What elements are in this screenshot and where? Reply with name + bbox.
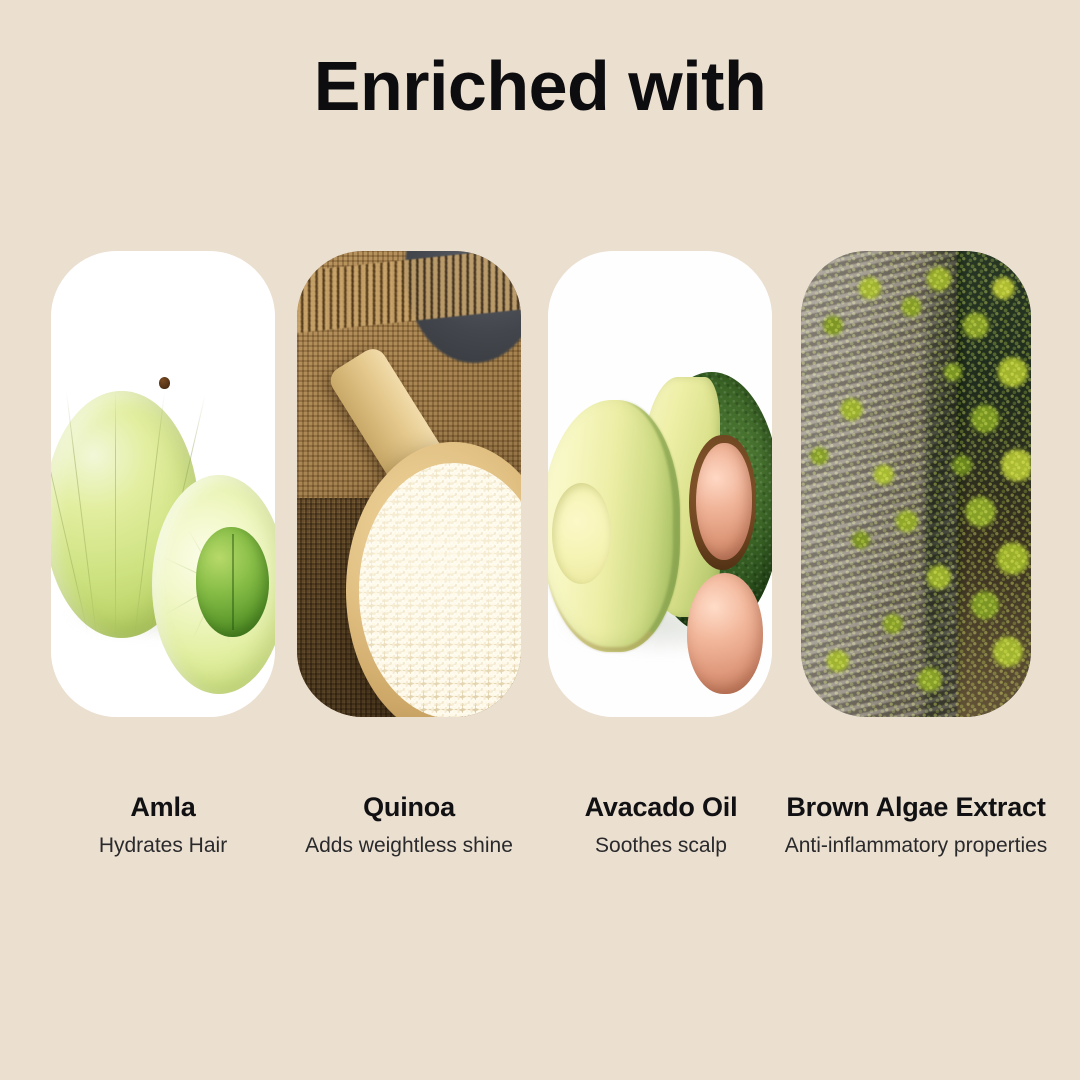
caption-avacado-oil: Avacado Oil Soothes scalp [531,790,791,859]
loose-avocado-pit [687,573,763,694]
enriched-with-infographic: Enriched with [0,0,1080,1080]
ingredient-benefit: Soothes scalp [531,832,791,859]
caption-quinoa: Quinoa Adds weightless shine [279,790,539,859]
lobe-line [66,392,97,637]
ingredient-card-quinoa[interactable] [297,251,521,717]
seed-split-line [232,534,234,630]
ingredient-benefit: Adds weightless shine [279,832,539,859]
quinoa-grains [359,463,521,717]
stem-nub [159,377,170,389]
avocado-halves-photo [548,251,772,717]
ingredient-card-avacado-oil[interactable] [548,251,772,717]
ingredient-benefit: Hydrates Hair [33,832,293,859]
page-title: Enriched with [0,44,1080,128]
seed-core [196,527,269,637]
ingredient-name: Avacado Oil [531,790,791,824]
ingredient-card-row [51,251,1031,717]
ingredient-name: Amla [33,790,293,824]
ingredient-card-amla[interactable] [51,251,275,717]
lobe-line [115,391,116,638]
caption-brown-algae-extract: Brown Algae Extract Anti-inflammatory pr… [777,790,1055,859]
bowl-interior [359,463,521,717]
avocado-pit [696,443,752,560]
halved-gooseberry [152,475,275,694]
brown-algae-moss-bark-photo [801,251,1031,717]
ingredient-card-brown-algae-extract[interactable] [801,251,1031,717]
ingredient-name: Brown Algae Extract [777,790,1055,824]
quinoa-bowl-photo [297,251,521,717]
pit-hollow [552,483,610,584]
caption-amla: Amla Hydrates Hair [33,790,293,859]
moss-speckles [801,251,1031,717]
ingredient-benefit: Anti-inflammatory properties [777,832,1055,859]
ingredient-name: Quinoa [279,790,539,824]
avocado-half-pitless [548,400,680,652]
amla-gooseberry-photo [51,251,275,717]
